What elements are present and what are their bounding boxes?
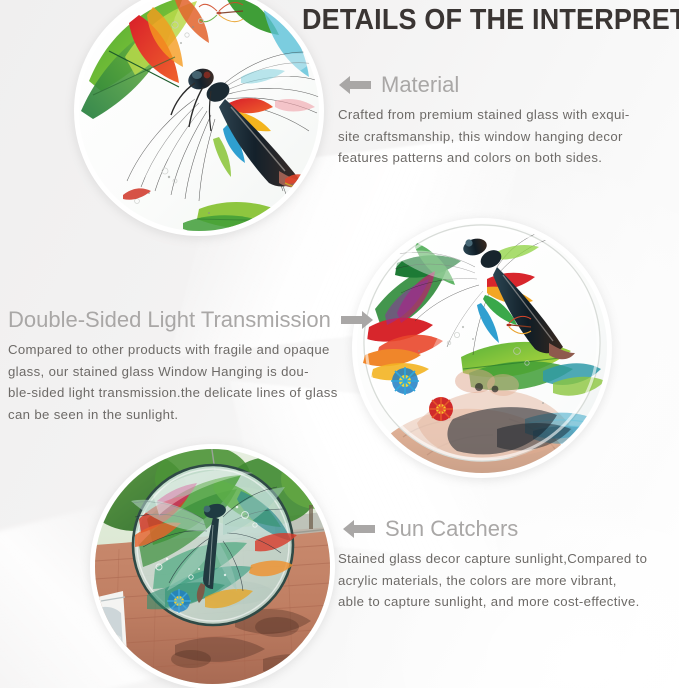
section-material-heading: Material bbox=[338, 72, 674, 98]
section-material: Material Crafted from premium stained gl… bbox=[338, 72, 674, 169]
section-material-title: Material bbox=[381, 72, 459, 98]
section-double-sided: Double-Sided Light Transmission Compared… bbox=[8, 307, 342, 425]
infographic-canvas: DETAILS OF THE INTERPRETATION bbox=[0, 0, 679, 688]
dragonfly-closeup-art bbox=[79, 0, 319, 231]
section-sun-catchers-heading: Sun Catchers bbox=[338, 516, 676, 542]
suncatcher-outdoor-art bbox=[95, 449, 330, 684]
arrow-right-icon bbox=[340, 310, 374, 330]
section-sun-catchers: Sun Catchers Stained glass decor capture… bbox=[338, 516, 676, 613]
section-double-sided-body: Compared to other products with fragile … bbox=[8, 339, 342, 425]
image-hand-holding-glass-disc bbox=[352, 218, 612, 478]
hand-disc-art bbox=[357, 223, 607, 473]
image-dragonfly-stained-glass-closeup bbox=[74, 0, 324, 236]
section-sun-catchers-title: Sun Catchers bbox=[385, 516, 518, 542]
arrow-left-icon bbox=[342, 519, 376, 539]
section-sun-catchers-body: Stained glass decor capture sunlight,Com… bbox=[338, 548, 676, 613]
section-material-body: Crafted from premium stained glass with … bbox=[338, 104, 674, 169]
arrow-left-icon bbox=[338, 75, 372, 95]
page-title: DETAILS OF THE INTERPRETATION bbox=[302, 3, 648, 37]
image-suncatcher-outdoors-brick-path bbox=[90, 444, 335, 688]
section-double-sided-title: Double-Sided Light Transmission bbox=[8, 307, 331, 333]
section-double-sided-heading: Double-Sided Light Transmission bbox=[8, 307, 342, 333]
